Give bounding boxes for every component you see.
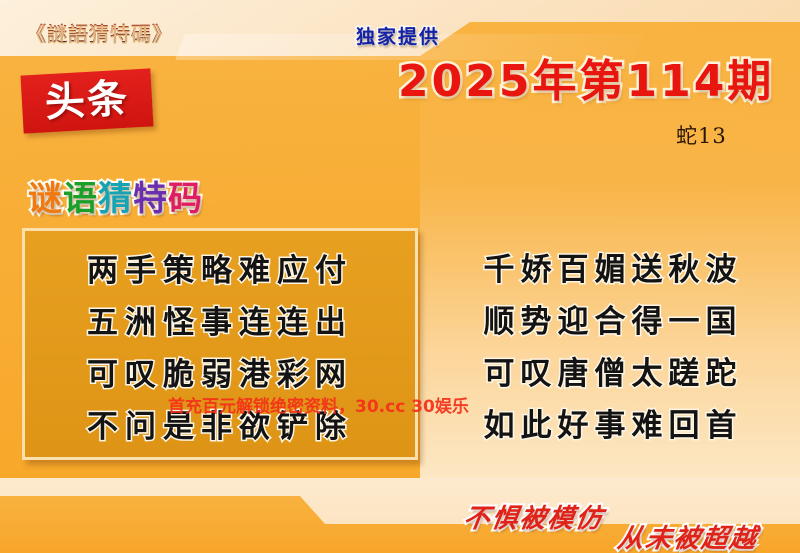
rainbow-title-char-2: 猜 [98, 182, 133, 216]
poem-line: 可叹唐僧太蹉跎 [438, 348, 788, 400]
watermark-text: 首充百元解锁绝密资料，30.cc 30娱乐 [168, 392, 469, 417]
rainbow-title-char-3: 特 [133, 182, 168, 216]
riddle-line: 五洲怪事连连出 [35, 297, 405, 349]
poem-line: 如此好事难回首 [438, 400, 788, 452]
slogan-left: 不惧被模仿 [461, 498, 607, 535]
poem-line: 千娇百媚送秋波 [438, 244, 788, 296]
headline-badge-label: 头条 [44, 79, 130, 124]
poem-block: 千娇百媚送秋波顺势迎合得一国可叹唐僧太蹉跎如此好事难回首 [438, 244, 788, 452]
zodiac-code: 蛇13 [676, 120, 727, 150]
section-title-rainbow: 谜语猜特码 [28, 182, 203, 216]
poster-canvas: 《謎語猜特碼》 独家提供 2025年第114期 蛇13 头条 谜语猜特码 两手策… [0, 0, 800, 553]
riddle-line: 两手策略难应付 [35, 245, 405, 297]
rainbow-title-char-0: 谜 [28, 182, 63, 216]
rainbow-title-char-4: 码 [168, 182, 203, 216]
rainbow-title-char-1: 语 [63, 182, 98, 216]
series-title: 《謎語猜特碼》 [26, 18, 173, 47]
poem-line: 顺势迎合得一国 [438, 296, 788, 348]
headline-badge: 头条 [20, 68, 153, 133]
riddle-box: 两手策略难应付五洲怪事连连出可叹脆弱港彩网不问是非欲铲除 [22, 228, 418, 460]
issue-title: 2025年第114期 [398, 45, 774, 109]
slogan-right: 从未被超越 [615, 518, 761, 553]
